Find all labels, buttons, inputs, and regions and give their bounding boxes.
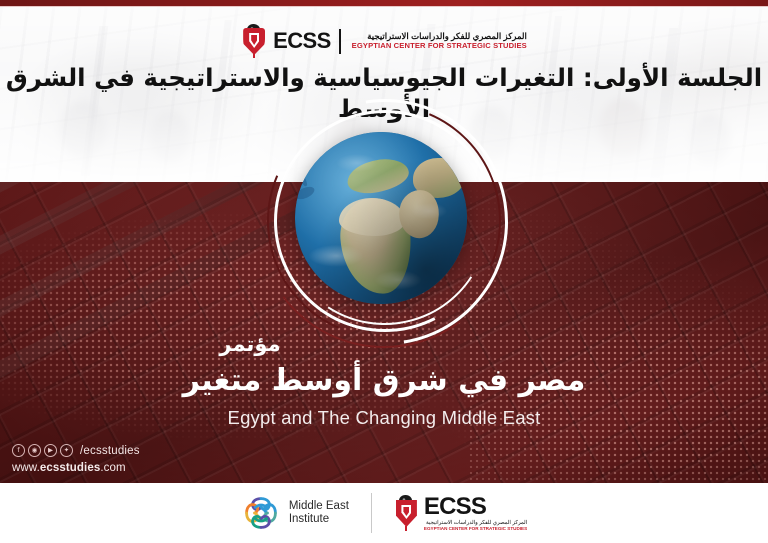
ecss-shield-logo-icon xyxy=(241,24,267,58)
footer-divider xyxy=(371,493,372,533)
website-url[interactable]: www.ecsstudies.com xyxy=(12,462,140,474)
conference-title-arabic: مصر في شرق أوسط متغير xyxy=(0,362,768,400)
logo-divider xyxy=(339,29,341,54)
ecss-footer-wordmark: ECSS xyxy=(424,495,527,519)
conference-poster: ECSS المركز المصري للفكر والدراسات الاست… xyxy=(0,0,768,543)
twitter-icon[interactable]: ✦ xyxy=(60,444,73,457)
instagram-icon[interactable]: ◉ xyxy=(28,444,41,457)
mei-line1: Middle East xyxy=(289,500,349,513)
conference-title-block: مؤتمر مصر في شرق أوسط متغير Egypt and Th… xyxy=(0,333,768,429)
earth-globe-icon xyxy=(295,132,467,304)
mei-line2: Institute xyxy=(289,513,349,526)
url-suffix: .com xyxy=(100,462,125,474)
youtube-icon[interactable]: ▶ xyxy=(44,444,57,457)
url-name: ecsstudies xyxy=(40,462,100,474)
globe-graphic xyxy=(264,108,504,333)
ecss-header-logo: ECSS المركز المصري للفكر والدراسات الاست… xyxy=(0,24,768,58)
ecss-footer-logo: ECSS المركز المصري للفكر والدراسات الاست… xyxy=(394,495,527,532)
url-prefix: www. xyxy=(12,462,40,474)
social-block: f ◉ ▶ ✦ /ecsstudies www.ecsstudies.com xyxy=(12,444,140,474)
ecss-wordmark: ECSS xyxy=(273,30,331,52)
conference-title-english: Egypt and The Changing Middle East xyxy=(0,407,768,429)
ecss-arabic-name: المركز المصري للفكر والدراسات الاستراتيج… xyxy=(352,32,527,41)
ecss-shield-logo-icon xyxy=(394,495,419,531)
ecss-english-name: EGYPTIAN CENTER FOR STRATEGIC STUDIES xyxy=(352,42,527,50)
ecss-footer-english-name: EGYPTIAN CENTER FOR STRATEGIC STUDIES xyxy=(424,526,527,532)
mei-knot-logo-icon xyxy=(241,493,281,533)
conference-kicker: مؤتمر xyxy=(0,333,768,356)
top-accent-stripe xyxy=(0,0,768,6)
mei-logo: Middle East Institute xyxy=(241,493,349,533)
facebook-icon[interactable]: f xyxy=(12,444,25,457)
partner-footer: Middle East Institute ECSS المركز المصري… xyxy=(0,483,768,543)
social-handle[interactable]: /ecsstudies xyxy=(80,445,140,457)
